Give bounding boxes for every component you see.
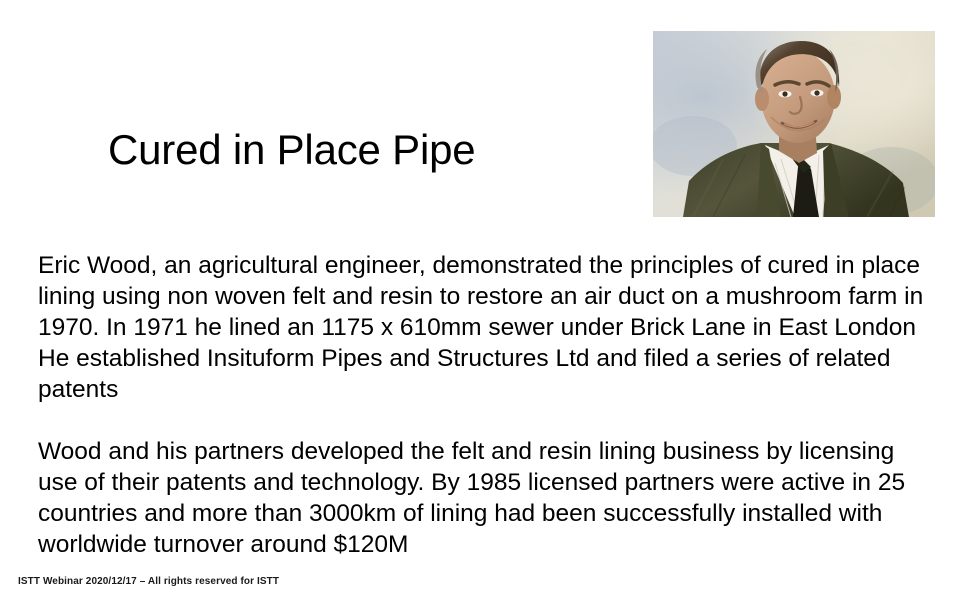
paragraph-spacer (38, 405, 938, 436)
page-title: Cured in Place Pipe (108, 128, 475, 172)
body-line: Eric Wood, an agricultural engineer, dem… (38, 250, 938, 281)
body-line: 1970. In 1971 he lined an 1175 x 610mm s… (38, 312, 938, 343)
footer-copyright-note: ISTT Webinar 2020/12/17 – All rights res… (18, 576, 279, 587)
body-line: lining using non woven felt and resin to… (38, 281, 938, 312)
body-line: patents (38, 374, 938, 405)
slide-body-text: Eric Wood, an agricultural engineer, dem… (38, 250, 938, 560)
body-line: countries and more than 3000km of lining… (38, 498, 938, 529)
body-line: He established Insituform Pipes and Stru… (38, 343, 938, 374)
body-line: Wood and his partners developed the felt… (38, 436, 938, 467)
portrait-photo (653, 31, 935, 217)
body-line: worldwide turnover around $120M (38, 529, 938, 560)
body-line: use of their patents and technology. By … (38, 467, 938, 498)
presentation-slide: Cured in Place Pipe Eric Wood, an agricu… (0, 0, 960, 600)
